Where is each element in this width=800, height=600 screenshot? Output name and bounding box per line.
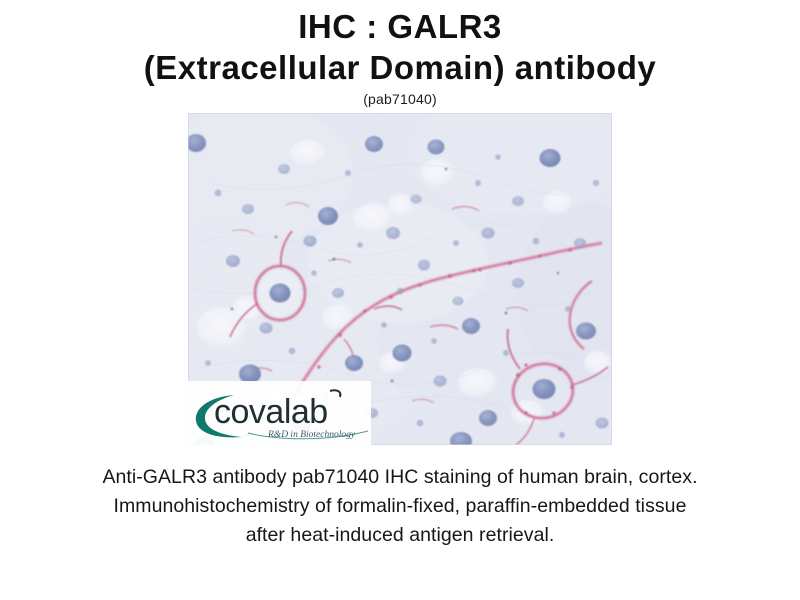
page-title-line-1: IHC : GALR3 xyxy=(20,6,780,47)
covalab-logo: covalab R&D in Biotechnology xyxy=(190,385,376,443)
logo-wordmark-text: covalab xyxy=(214,393,328,431)
title-block: IHC : GALR3 (Extracellular Domain) antib… xyxy=(20,0,780,108)
page-title-line-2: (Extracellular Domain) antibody xyxy=(20,47,780,88)
catalog-number: (pab71040) xyxy=(20,90,780,108)
figure-container: covalab R&D in Biotechnology xyxy=(188,113,612,445)
covalab-logo-watermark: covalab R&D in Biotechnology xyxy=(188,381,371,445)
figure-caption: Anti-GALR3 antibody pab71040 IHC stainin… xyxy=(95,463,705,550)
product-figure-page: IHC : GALR3 (Extracellular Domain) antib… xyxy=(0,0,800,600)
covalab-logo-svg: covalab R&D in Biotechnology xyxy=(190,385,376,443)
